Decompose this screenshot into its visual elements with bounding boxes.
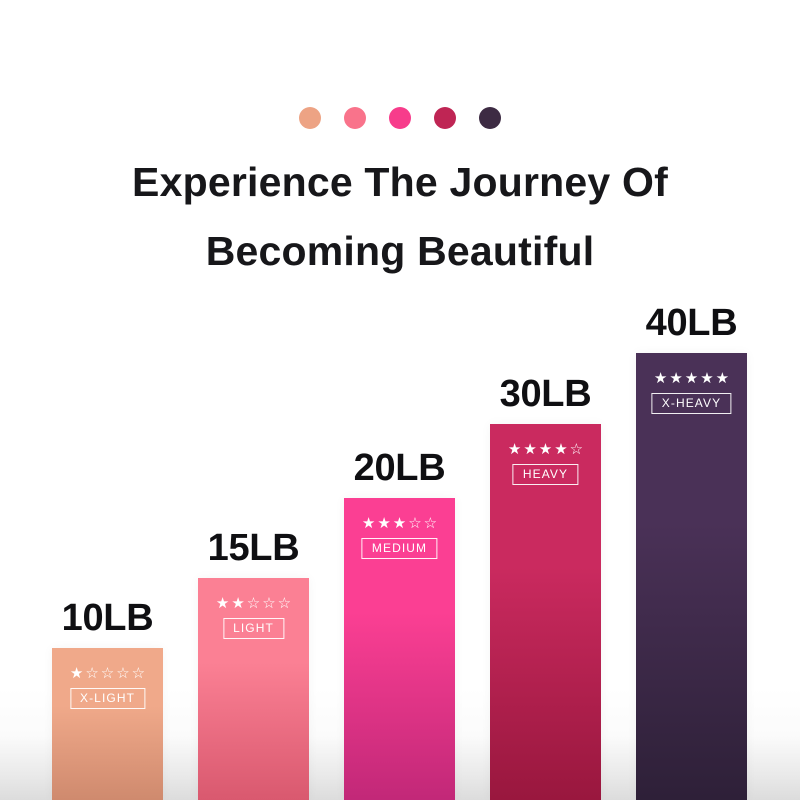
bar-group-20lb[interactable]: 20LB★★★☆☆MEDIUM — [344, 498, 455, 800]
star-empty-icon: ☆ — [247, 596, 260, 611]
resistance-level-label: MEDIUM — [362, 538, 437, 559]
star-empty-icon: ☆ — [262, 596, 275, 611]
star-empty-icon: ☆ — [424, 516, 437, 531]
star-filled-icon: ★ — [523, 442, 536, 457]
bar-badge: ★★★★★X-HEAVY — [645, 371, 738, 414]
bar-badge: ★★★★☆HEAVY — [499, 442, 592, 485]
star-empty-icon: ☆ — [116, 666, 129, 681]
star-empty-icon: ☆ — [408, 516, 421, 531]
bar-fill — [636, 353, 747, 800]
bar-group-30lb[interactable]: 30LB★★★★☆HEAVY — [490, 424, 601, 800]
star-empty-icon: ☆ — [132, 666, 145, 681]
star-filled-icon: ★ — [539, 442, 552, 457]
star-rating: ★★★★☆ — [508, 442, 583, 457]
bar-weight-label: 20LB — [354, 447, 446, 490]
star-filled-icon: ★ — [654, 371, 667, 386]
resistance-level-label: X-HEAVY — [652, 393, 732, 414]
star-filled-icon: ★ — [669, 371, 682, 386]
bar-badge: ★★☆☆☆LIGHT — [207, 596, 300, 639]
star-filled-icon: ★ — [508, 442, 521, 457]
resistance-level-label: X-LIGHT — [70, 688, 145, 709]
star-filled-icon: ★ — [700, 371, 713, 386]
resistance-band-bar-chart: 10LB★☆☆☆☆X-LIGHT15LB★★☆☆☆LIGHT20LB★★★☆☆M… — [0, 0, 800, 800]
bar-group-15lb[interactable]: 15LB★★☆☆☆LIGHT — [198, 578, 309, 800]
star-filled-icon: ★ — [216, 596, 229, 611]
star-empty-icon: ☆ — [85, 666, 98, 681]
star-filled-icon: ★ — [685, 371, 698, 386]
star-empty-icon: ☆ — [101, 666, 114, 681]
star-filled-icon: ★ — [377, 516, 390, 531]
resistance-level-label: HEAVY — [513, 464, 578, 485]
bar-badge: ★★★☆☆MEDIUM — [353, 516, 446, 559]
star-filled-icon: ★ — [716, 371, 729, 386]
bar-group-10lb[interactable]: 10LB★☆☆☆☆X-LIGHT — [52, 648, 163, 800]
bar-weight-label: 15LB — [208, 527, 300, 570]
star-filled-icon: ★ — [231, 596, 244, 611]
star-rating: ★★★★★ — [654, 371, 729, 386]
star-filled-icon: ★ — [70, 666, 83, 681]
resistance-level-label: LIGHT — [223, 618, 284, 639]
star-filled-icon: ★ — [393, 516, 406, 531]
star-rating: ★★★☆☆ — [362, 516, 437, 531]
star-filled-icon: ★ — [362, 516, 375, 531]
bar-group-40lb[interactable]: 40LB★★★★★X-HEAVY — [636, 353, 747, 800]
bar-weight-label: 10LB — [62, 597, 154, 640]
star-rating: ★★☆☆☆ — [216, 596, 291, 611]
star-rating: ★☆☆☆☆ — [70, 666, 145, 681]
bar-badge: ★☆☆☆☆X-LIGHT — [61, 666, 154, 709]
star-filled-icon: ★ — [554, 442, 567, 457]
star-empty-icon: ☆ — [278, 596, 291, 611]
star-empty-icon: ☆ — [570, 442, 583, 457]
bar-weight-label: 30LB — [500, 373, 592, 416]
bar-weight-label: 40LB — [646, 302, 738, 345]
